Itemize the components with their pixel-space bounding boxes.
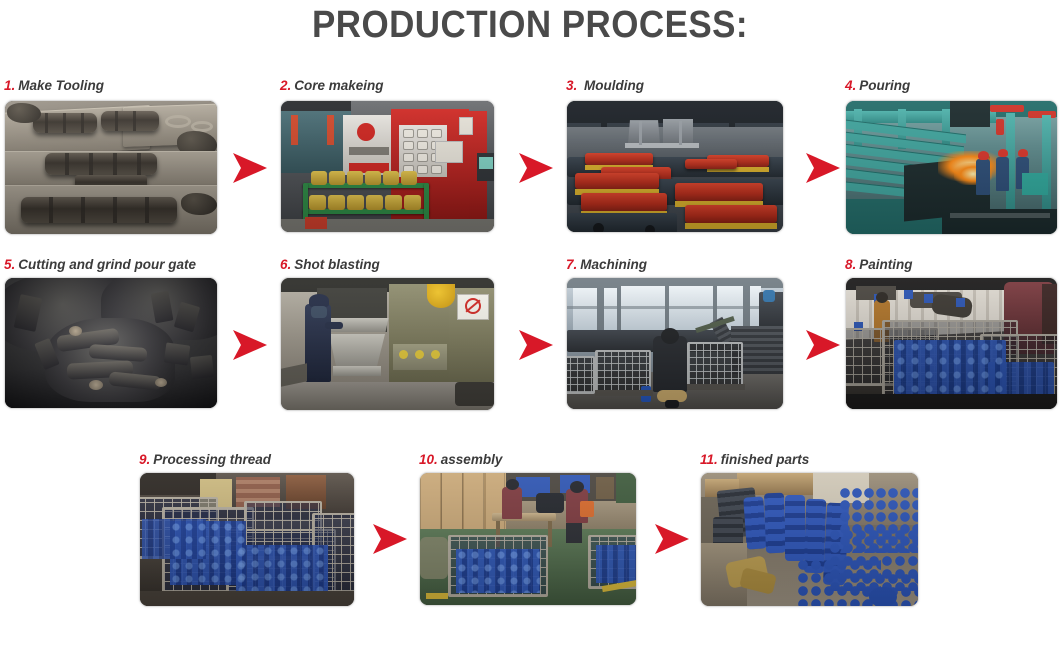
arrow-step-5-to-6 bbox=[232, 328, 268, 362]
production-process-infographic: PRODUCTION PROCESS: 1.Make Tooling bbox=[0, 0, 1060, 650]
step-11-number: 11. bbox=[700, 452, 718, 467]
step-3-number: 3. bbox=[566, 78, 577, 93]
step-10-photo[interactable] bbox=[419, 472, 637, 606]
step-8-text: Painting bbox=[859, 257, 912, 272]
arrow-step-10-to-11 bbox=[654, 522, 690, 556]
step-5-number: 5. bbox=[4, 257, 15, 272]
arrow-step-7-to-8 bbox=[805, 328, 841, 362]
step-1-image bbox=[5, 101, 217, 234]
step-3-text: Moulding bbox=[580, 78, 644, 93]
step-11-text: finished parts bbox=[721, 452, 810, 467]
step-10-label: 10.assembly bbox=[419, 452, 502, 468]
step-6-image bbox=[281, 278, 494, 410]
step-10-image bbox=[420, 473, 636, 605]
step-3-label: 3. Moulding bbox=[566, 78, 644, 94]
step-10-number: 10. bbox=[419, 452, 438, 467]
step-11-label: 11.finished parts bbox=[700, 452, 809, 468]
step-7-number: 7. bbox=[566, 257, 577, 272]
step-7-text: Machining bbox=[580, 257, 647, 272]
step-6-text: Shot blasting bbox=[294, 257, 380, 272]
step-4-number: 4. bbox=[845, 78, 856, 93]
step-1-photo[interactable] bbox=[4, 100, 218, 235]
step-11-photo[interactable] bbox=[700, 472, 919, 607]
arrow-step-9-to-10 bbox=[372, 522, 408, 556]
step-2-image bbox=[281, 101, 494, 232]
step-4-image bbox=[846, 101, 1057, 234]
step-5-text: Cutting and grind pour gate bbox=[18, 257, 196, 272]
step-10-text: assembly bbox=[441, 452, 503, 467]
step-8-photo[interactable] bbox=[845, 277, 1058, 410]
step-9-photo[interactable] bbox=[139, 472, 355, 607]
step-1-text: Make Tooling bbox=[18, 78, 104, 93]
arrow-step-2-to-3 bbox=[518, 151, 554, 185]
arrow-step-3-to-4 bbox=[805, 151, 841, 185]
step-7-photo[interactable] bbox=[566, 277, 784, 410]
step-5-image bbox=[5, 278, 217, 408]
arrow-step-1-to-2 bbox=[232, 151, 268, 185]
step-11-image bbox=[701, 473, 918, 606]
step-8-number: 8. bbox=[845, 257, 856, 272]
step-1-label: 1.Make Tooling bbox=[4, 78, 104, 94]
step-6-photo[interactable] bbox=[280, 277, 495, 411]
page-title: PRODUCTION PROCESS: bbox=[42, 2, 1017, 48]
step-8-label: 8.Painting bbox=[845, 257, 913, 273]
step-4-photo[interactable] bbox=[845, 100, 1058, 235]
step-6-number: 6. bbox=[280, 257, 291, 272]
step-3-photo[interactable] bbox=[566, 100, 784, 233]
step-2-photo[interactable] bbox=[280, 100, 495, 233]
step-9-image bbox=[140, 473, 354, 606]
step-9-label: 9.Processing thread bbox=[139, 452, 271, 468]
step-8-image bbox=[846, 278, 1057, 409]
step-7-image bbox=[567, 278, 783, 409]
step-2-text: Core makeing bbox=[294, 78, 383, 93]
arrow-step-6-to-7 bbox=[518, 328, 554, 362]
step-7-label: 7.Machining bbox=[566, 257, 647, 273]
step-2-number: 2. bbox=[280, 78, 291, 93]
step-9-text: Processing thread bbox=[153, 452, 271, 467]
step-6-label: 6.Shot blasting bbox=[280, 257, 380, 273]
step-1-number: 1. bbox=[4, 78, 15, 93]
step-5-label: 5.Cutting and grind pour gate bbox=[4, 257, 196, 273]
step-2-label: 2.Core makeing bbox=[280, 78, 384, 94]
step-9-number: 9. bbox=[139, 452, 150, 467]
step-4-label: 4.Pouring bbox=[845, 78, 910, 94]
step-3-image bbox=[567, 101, 783, 232]
step-4-text: Pouring bbox=[859, 78, 910, 93]
step-5-photo[interactable] bbox=[4, 277, 218, 409]
